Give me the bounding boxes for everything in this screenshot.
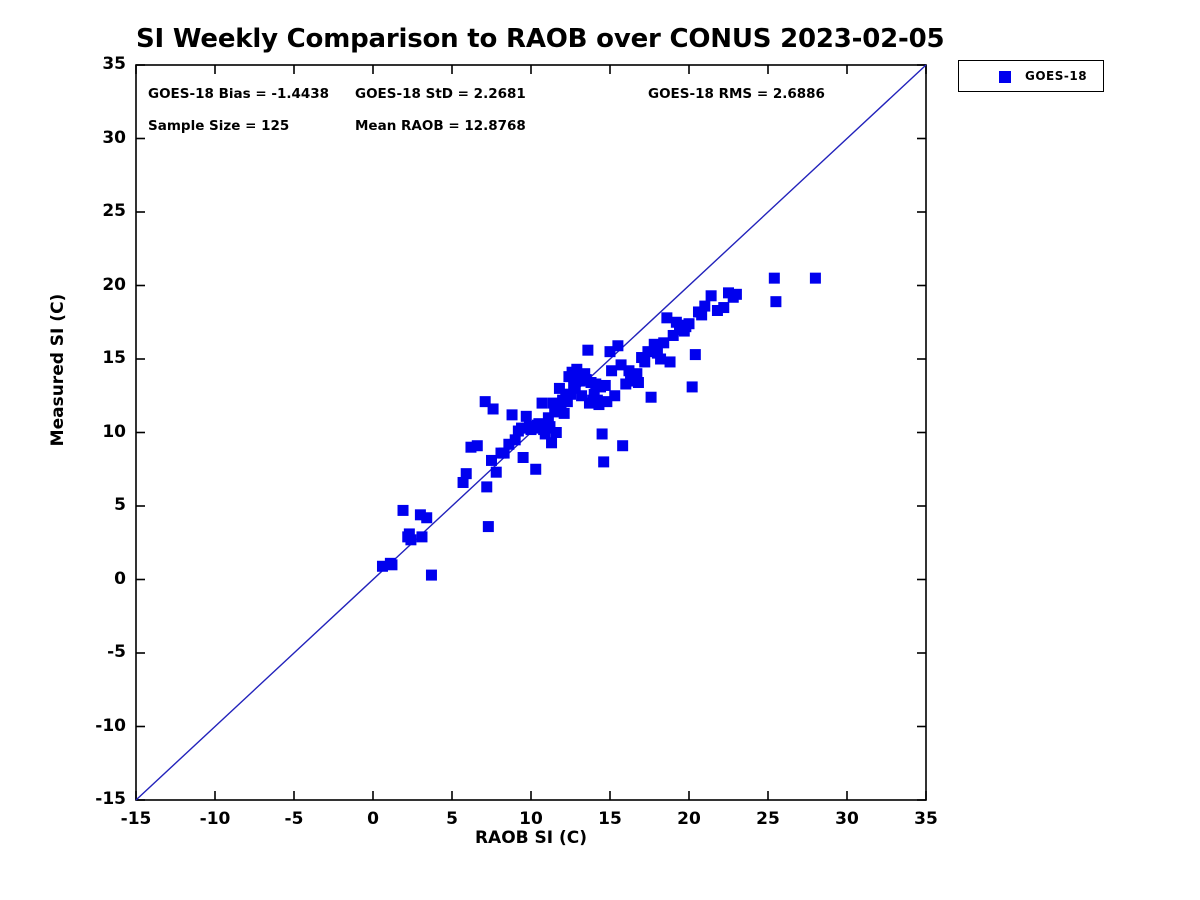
data-point — [486, 455, 497, 466]
data-point — [421, 512, 432, 523]
y-tick-label: 15 — [66, 348, 126, 368]
data-point — [386, 559, 397, 570]
y-tick-label: 25 — [66, 201, 126, 221]
legend-label-goes18: GOES-18 — [1025, 69, 1087, 83]
data-point — [426, 570, 437, 581]
x-tick-label: -10 — [185, 809, 245, 829]
x-tick-label: 5 — [422, 809, 482, 829]
data-point — [597, 428, 608, 439]
data-point — [684, 318, 695, 329]
legend: GOES-18 — [958, 60, 1104, 92]
data-point — [690, 349, 701, 360]
data-point — [537, 398, 548, 409]
data-point — [606, 365, 617, 376]
data-point — [416, 531, 427, 542]
data-point — [518, 452, 529, 463]
x-tick-label: 15 — [580, 809, 640, 829]
y-tick-label: 30 — [66, 128, 126, 148]
data-point — [769, 273, 780, 284]
data-point — [612, 340, 623, 351]
x-axis-label: RAOB SI (C) — [136, 828, 926, 848]
data-point — [483, 521, 494, 532]
data-point — [559, 408, 570, 419]
data-point — [551, 427, 562, 438]
legend-marker-goes18 — [999, 71, 1011, 83]
y-tick-label: -5 — [66, 642, 126, 662]
data-point — [706, 290, 717, 301]
data-point — [405, 534, 416, 545]
scatter-plot-canvas — [0, 0, 1200, 900]
data-point — [582, 345, 593, 356]
y-tick-label: -10 — [66, 716, 126, 736]
data-point — [699, 301, 710, 312]
chart-figure: SI Weekly Comparison to RAOB over CONUS … — [0, 0, 1200, 900]
x-tick-label: 10 — [501, 809, 561, 829]
data-point — [491, 467, 502, 478]
x-tick-label: 0 — [343, 809, 403, 829]
data-point — [810, 273, 821, 284]
x-tick-label: 35 — [896, 809, 956, 829]
data-point — [655, 354, 666, 365]
data-point — [646, 392, 657, 403]
data-point — [665, 356, 676, 367]
y-tick-label: 20 — [66, 275, 126, 295]
x-tick-label: -15 — [106, 809, 166, 829]
data-point — [617, 440, 628, 451]
series-goes-18 — [377, 273, 821, 581]
x-tick-label: 30 — [817, 809, 877, 829]
data-point — [461, 468, 472, 479]
data-point — [472, 440, 483, 451]
data-point — [661, 312, 672, 323]
data-point — [546, 437, 557, 448]
x-tick-label: -5 — [264, 809, 324, 829]
data-point — [633, 377, 644, 388]
y-tick-label: 35 — [66, 54, 126, 74]
data-point — [639, 356, 650, 367]
y-tick-label: 10 — [66, 422, 126, 442]
data-point — [598, 456, 609, 467]
data-point — [507, 409, 518, 420]
y-axis-label: Measured SI (C) — [48, 270, 68, 470]
x-tick-label: 25 — [738, 809, 798, 829]
data-point — [731, 289, 742, 300]
data-point — [521, 411, 532, 422]
data-point — [658, 337, 669, 348]
data-point — [600, 380, 611, 391]
data-point — [687, 381, 698, 392]
data-point — [770, 296, 781, 307]
data-point — [718, 302, 729, 313]
data-point — [481, 481, 492, 492]
data-point — [530, 464, 541, 475]
x-tick-label: 20 — [659, 809, 719, 829]
y-tick-label: 5 — [66, 495, 126, 515]
y-tick-label: -15 — [66, 789, 126, 809]
data-point — [398, 505, 409, 516]
data-point — [488, 403, 499, 414]
data-point — [609, 390, 620, 401]
y-tick-label: 0 — [66, 569, 126, 589]
